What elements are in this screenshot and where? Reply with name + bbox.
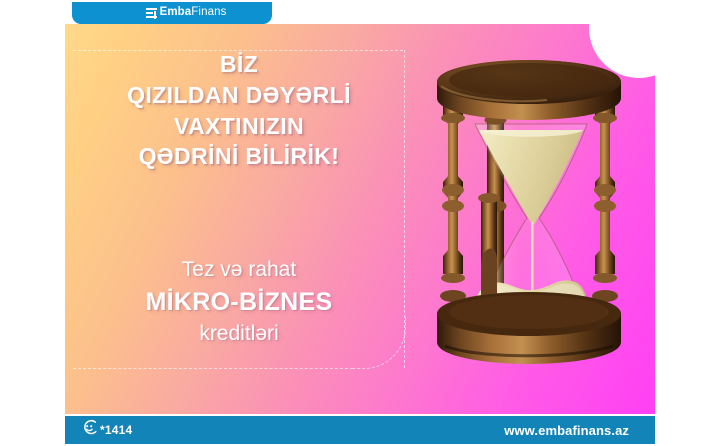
subcopy-block: Tez və rahat MİKRO-BİZNES kreditləri xyxy=(75,256,403,348)
smiley-support-icon xyxy=(81,419,98,441)
brand-name: EmbaFinans xyxy=(160,7,227,19)
subcopy-line-2: MİKRO-BİZNES xyxy=(75,286,403,318)
headline-block: BİZ QIZILDAN DƏYƏRLİ VAXTINIZIN QƏDRİNİ … xyxy=(75,52,403,170)
website-url[interactable]: www.embafinans.az xyxy=(504,424,639,437)
headline-line-2: QIZILDAN DƏYƏRLİ xyxy=(75,83,403,109)
brand-header-tab: EmbaFinans xyxy=(72,2,272,24)
subcopy-line-1: Tez və rahat xyxy=(75,256,403,283)
brand-name-bold: Emba xyxy=(160,6,192,18)
headline-line-4: QƏDRİNİ BİLİRİK! xyxy=(75,144,403,170)
embafinans-logo: EmbaFinans xyxy=(146,7,227,19)
hourglass-illustration xyxy=(427,46,637,398)
advertisement-banner: EmbaFinans BİZ QIZILDAN DƏYƏRLİ VAXTINIZ… xyxy=(0,0,720,446)
banner-panel: BİZ QIZILDAN DƏYƏRLİ VAXTINIZIN QƏDRİNİ … xyxy=(65,24,655,414)
subcopy-line-3: kreditləri xyxy=(75,320,403,347)
hotline-number: *1414 xyxy=(100,424,132,436)
headline-line-3: VAXTINIZIN xyxy=(75,114,403,140)
footer-bar: *1414 www.embafinans.az xyxy=(65,416,655,444)
headline-line-1: BİZ xyxy=(75,52,403,78)
brand-name-light: Finans xyxy=(191,6,226,18)
hotline-group[interactable]: *1414 xyxy=(81,419,132,441)
embafinans-bars-icon xyxy=(146,8,157,19)
dashed-guide-bottom xyxy=(73,368,353,369)
headline: BİZ QIZILDAN DƏYƏRLİ VAXTINIZIN QƏDRİNİ … xyxy=(75,52,403,170)
